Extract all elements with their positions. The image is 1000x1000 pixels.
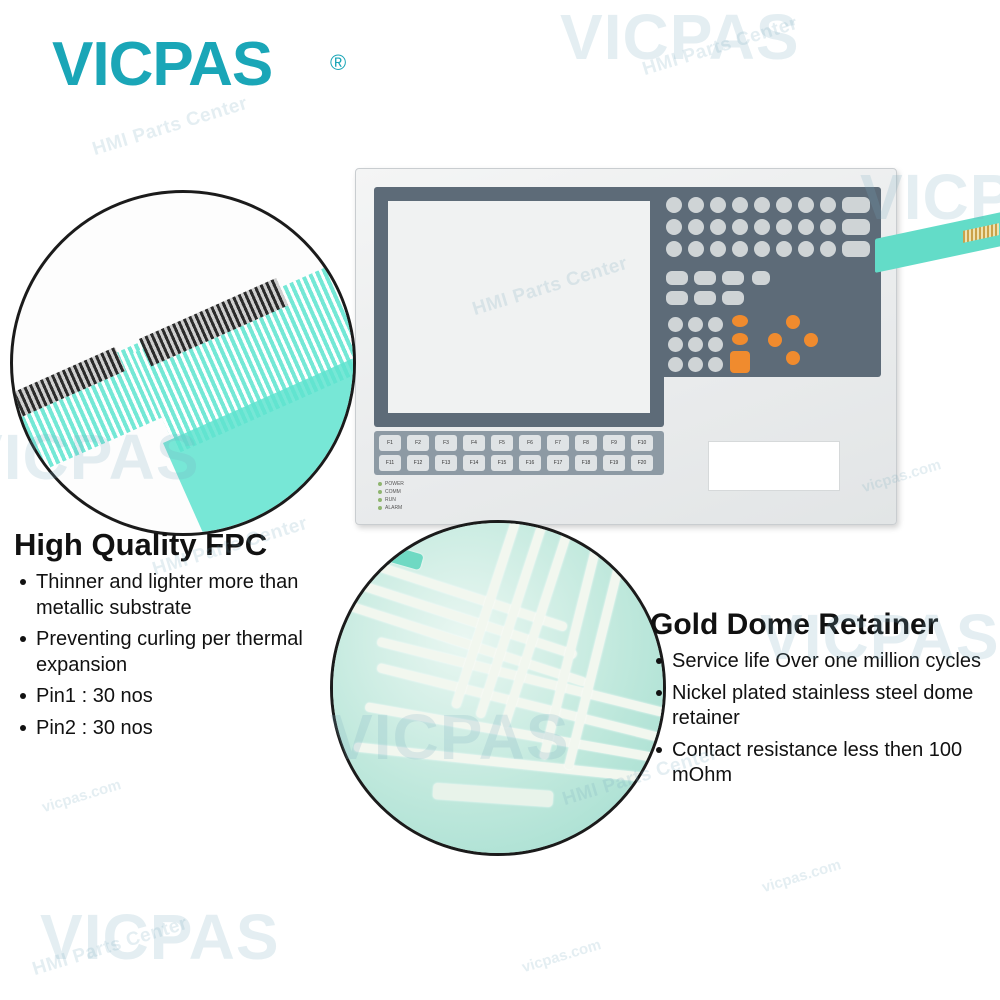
watermark-text: VICPAS (560, 0, 800, 74)
led-indicator-group: POWER COMM RUN ALARM (378, 481, 404, 513)
function-key[interactable]: F12 (407, 455, 429, 471)
fpc-closeup-content (13, 193, 353, 533)
list-item: Thinner and lighter more than metallic s… (14, 570, 344, 621)
key-numeric[interactable] (708, 317, 723, 332)
key-alpha[interactable] (732, 241, 748, 257)
key-numeric[interactable] (688, 317, 703, 332)
callout-dome: Gold Dome Retainer Service life Over one… (650, 608, 1000, 795)
key-alpha[interactable] (688, 241, 704, 257)
display-area (388, 201, 650, 413)
key-alpha[interactable] (820, 219, 836, 235)
function-key[interactable]: F7 (547, 435, 569, 451)
key-alpha[interactable] (666, 197, 682, 213)
key-numeric[interactable] (708, 337, 723, 352)
watermark-text: HMI Parts Center (90, 93, 251, 161)
key-numeric[interactable] (668, 357, 683, 372)
key-numeric[interactable] (688, 357, 703, 372)
led-row: COMM (378, 489, 404, 495)
callout-fpc-list: Thinner and lighter more than metallic s… (14, 570, 344, 742)
list-item: Preventing curling per thermal expansion (14, 627, 344, 678)
led-row: RUN (378, 497, 404, 503)
function-key[interactable]: F9 (603, 435, 625, 451)
brand-name: VICPAS (52, 34, 272, 96)
function-key[interactable]: F5 (491, 435, 513, 451)
key-alpha[interactable] (820, 197, 836, 213)
key-numeric[interactable] (668, 337, 683, 352)
key-arrow-right[interactable] (804, 333, 818, 347)
fpc-tail-connector (875, 223, 1000, 259)
key-wide[interactable] (842, 241, 870, 257)
key-alpha[interactable] (666, 219, 682, 235)
key-arrow-down[interactable] (786, 351, 800, 365)
watermark-text: HMI Parts Center (640, 13, 801, 81)
callout-fpc-title: High Quality FPC (14, 528, 344, 562)
watermark-text: vicpas.com (760, 856, 843, 896)
key-alpha[interactable] (798, 197, 814, 213)
key-alpha[interactable] (666, 241, 682, 257)
key-alpha[interactable] (754, 219, 770, 235)
callout-fpc: High Quality FPC Thinner and lighter mor… (14, 528, 344, 748)
function-key[interactable]: F13 (435, 455, 457, 471)
function-key[interactable]: F17 (547, 455, 569, 471)
led-label: COMM (385, 489, 401, 495)
key-alpha[interactable] (688, 219, 704, 235)
key-arrow-up[interactable] (786, 315, 800, 329)
key-accent[interactable] (732, 333, 748, 345)
key-func[interactable] (666, 271, 688, 285)
function-key[interactable]: F8 (575, 435, 597, 451)
function-key[interactable]: F19 (603, 455, 625, 471)
dome-closeup-circle (330, 520, 666, 856)
led-icon (378, 498, 382, 502)
key-accent[interactable] (732, 315, 748, 327)
led-row: POWER (378, 481, 404, 487)
key-alpha[interactable] (754, 241, 770, 257)
key-alpha[interactable] (776, 241, 792, 257)
list-item: Service life Over one million cycles (650, 649, 1000, 675)
key-numeric[interactable] (668, 317, 683, 332)
key-func[interactable] (752, 271, 770, 285)
led-label: POWER (385, 481, 404, 487)
function-key-bar: F1 F2 F3 F4 F5 F6 F7 F8 F9 F10 F11 F12 F… (374, 431, 664, 475)
key-func[interactable] (694, 291, 716, 305)
key-wide[interactable] (842, 219, 870, 235)
registered-mark-icon: ® (330, 50, 346, 76)
key-enter[interactable] (730, 351, 750, 373)
label-window (708, 441, 840, 491)
key-func[interactable] (722, 271, 744, 285)
list-item: Pin2 : 30 nos (14, 716, 344, 742)
watermark-text: HMI Parts Center (30, 913, 191, 981)
function-key[interactable]: F15 (491, 455, 513, 471)
dome-closeup-content (333, 523, 663, 853)
function-key[interactable]: F10 (631, 435, 653, 451)
key-alpha[interactable] (776, 197, 792, 213)
circuit-trace (330, 592, 588, 687)
key-alpha[interactable] (710, 241, 726, 257)
function-key[interactable]: F3 (435, 435, 457, 451)
key-arrow-left[interactable] (768, 333, 782, 347)
key-alpha[interactable] (776, 219, 792, 235)
key-numeric[interactable] (688, 337, 703, 352)
key-alpha[interactable] (820, 241, 836, 257)
led-icon (378, 506, 382, 510)
keypad-area (656, 187, 881, 377)
callout-dome-list: Service life Over one million cycles Nic… (650, 649, 1000, 789)
key-func[interactable] (722, 291, 744, 305)
conductive-pad (433, 783, 554, 807)
function-key[interactable]: F2 (407, 435, 429, 451)
function-key[interactable]: F11 (379, 455, 401, 471)
function-key[interactable]: F20 (631, 455, 653, 471)
watermark-text: vicpas.com (40, 776, 123, 816)
product-image: F1 F2 F3 F4 F5 F6 F7 F8 F9 F10 F11 F12 F… (0, 0, 1000, 1000)
list-item: Contact resistance less then 100 mOhm (650, 738, 1000, 789)
key-alpha[interactable] (688, 197, 704, 213)
panel-body: F1 F2 F3 F4 F5 F6 F7 F8 F9 F10 F11 F12 F… (355, 168, 897, 525)
key-alpha[interactable] (798, 219, 814, 235)
key-alpha[interactable] (732, 197, 748, 213)
function-key[interactable]: F1 (379, 435, 401, 451)
hmi-membrane-panel: F1 F2 F3 F4 F5 F6 F7 F8 F9 F10 F11 F12 F… (355, 168, 955, 528)
list-item: Pin1 : 30 nos (14, 684, 344, 710)
function-key[interactable]: F4 (463, 435, 485, 451)
led-icon (378, 490, 382, 494)
function-key[interactable]: F18 (575, 455, 597, 471)
led-label: RUN (385, 497, 396, 503)
led-icon (378, 482, 382, 486)
key-alpha[interactable] (710, 197, 726, 213)
key-numeric[interactable] (708, 357, 723, 372)
function-key[interactable]: F14 (463, 455, 485, 471)
list-item: Nickel plated stainless steel dome retai… (650, 681, 1000, 732)
function-key[interactable]: F6 (519, 435, 541, 451)
led-row: ALARM (378, 505, 404, 511)
watermark-text: VICPAS (40, 900, 280, 974)
key-alpha[interactable] (732, 219, 748, 235)
function-key[interactable]: F16 (519, 455, 541, 471)
key-alpha[interactable] (710, 219, 726, 235)
watermark-text: vicpas.com (520, 936, 603, 976)
callout-dome-title: Gold Dome Retainer (650, 608, 1000, 641)
key-func[interactable] (666, 291, 688, 305)
display-bezel (374, 187, 664, 427)
key-wide[interactable] (842, 197, 870, 213)
led-label: ALARM (385, 505, 402, 511)
brand-logo: VICPAS ® (52, 34, 272, 96)
key-func[interactable] (694, 271, 716, 285)
fpc-closeup-circle (10, 190, 356, 536)
key-alpha[interactable] (798, 241, 814, 257)
key-alpha[interactable] (754, 197, 770, 213)
